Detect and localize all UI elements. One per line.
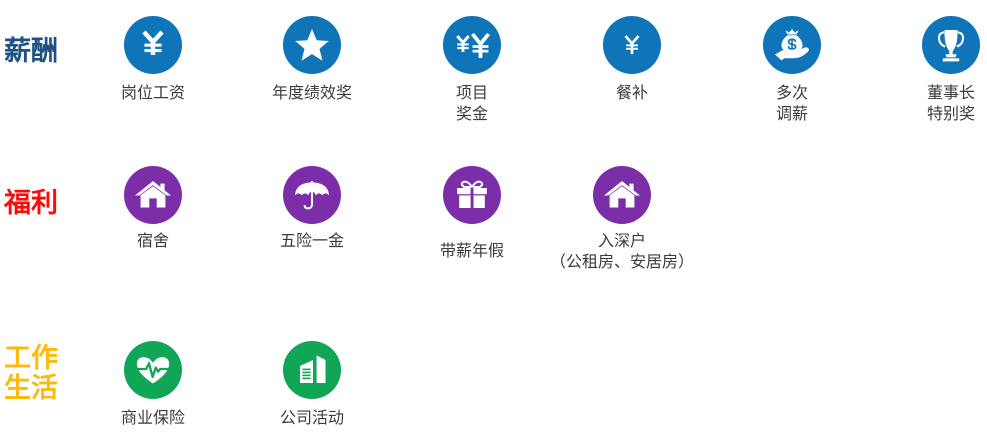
- umbrella-icon: [283, 166, 341, 224]
- benefit-item-annual-performance-bonus[interactable]: 年度绩效奖: [252, 16, 372, 104]
- category-label-work-life: 工作 生活: [4, 343, 58, 403]
- benefit-item-label: 五险一金: [252, 231, 372, 252]
- benefit-item-label: 项目 奖金: [412, 83, 532, 125]
- benefit-item-label: 入深户 （公租房、安居房）: [517, 231, 727, 273]
- benefit-item-label: 公司活动: [252, 408, 372, 429]
- benefit-item-dormitory[interactable]: 宿舍: [93, 166, 213, 252]
- trophy-icon: [922, 16, 980, 74]
- benefit-item-position-salary[interactable]: 岗位工资: [93, 16, 213, 104]
- benefit-item-label: 带薪年假: [412, 241, 532, 262]
- benefit-item-five-insurances-one-fund[interactable]: 五险一金: [252, 166, 372, 252]
- yen-coin-icon: [124, 16, 182, 74]
- yen-symbol-icon: [603, 16, 661, 74]
- benefit-item-company-activities[interactable]: 公司活动: [252, 341, 372, 429]
- category-label-pay: 薪酬: [4, 36, 58, 66]
- house-icon: [593, 166, 651, 224]
- star-icon: [283, 16, 341, 74]
- benefit-item-paid-annual-leave[interactable]: 带薪年假: [412, 166, 532, 262]
- benefit-item-label: 年度绩效奖: [252, 83, 372, 104]
- benefit-item-multiple-raises[interactable]: 多次 调薪: [732, 16, 852, 125]
- benefit-item-label: 餐补: [572, 83, 692, 104]
- benefit-item-commercial-insurance[interactable]: 商业保险: [93, 341, 213, 429]
- category-label-welfare: 福利: [4, 188, 58, 218]
- benefit-item-meal-allowance[interactable]: 餐补: [572, 16, 692, 104]
- benefits-overview-board: 薪酬 岗位工资 年度绩效奖: [0, 0, 987, 444]
- benefit-item-chairman-special-award[interactable]: 董事长 特别奖: [891, 16, 987, 125]
- benefit-item-label: 董事长 特别奖: [891, 83, 987, 125]
- benefit-item-label: 岗位工资: [93, 83, 213, 104]
- benefit-item-label: 多次 调薪: [732, 83, 852, 125]
- benefit-item-project-bonus[interactable]: 项目 奖金: [412, 16, 532, 125]
- house-icon: [124, 166, 182, 224]
- money-bag-hand-icon: [763, 16, 821, 74]
- benefit-item-label: 商业保险: [93, 408, 213, 429]
- buildings-icon: [283, 341, 341, 399]
- gift-icon: [443, 166, 501, 224]
- double-yen-icon: [443, 16, 501, 74]
- benefit-item-label: 宿舍: [93, 231, 213, 252]
- benefit-item-shenzhen-hukou[interactable]: 入深户 （公租房、安居房）: [517, 166, 727, 273]
- heart-pulse-icon: [124, 341, 182, 399]
